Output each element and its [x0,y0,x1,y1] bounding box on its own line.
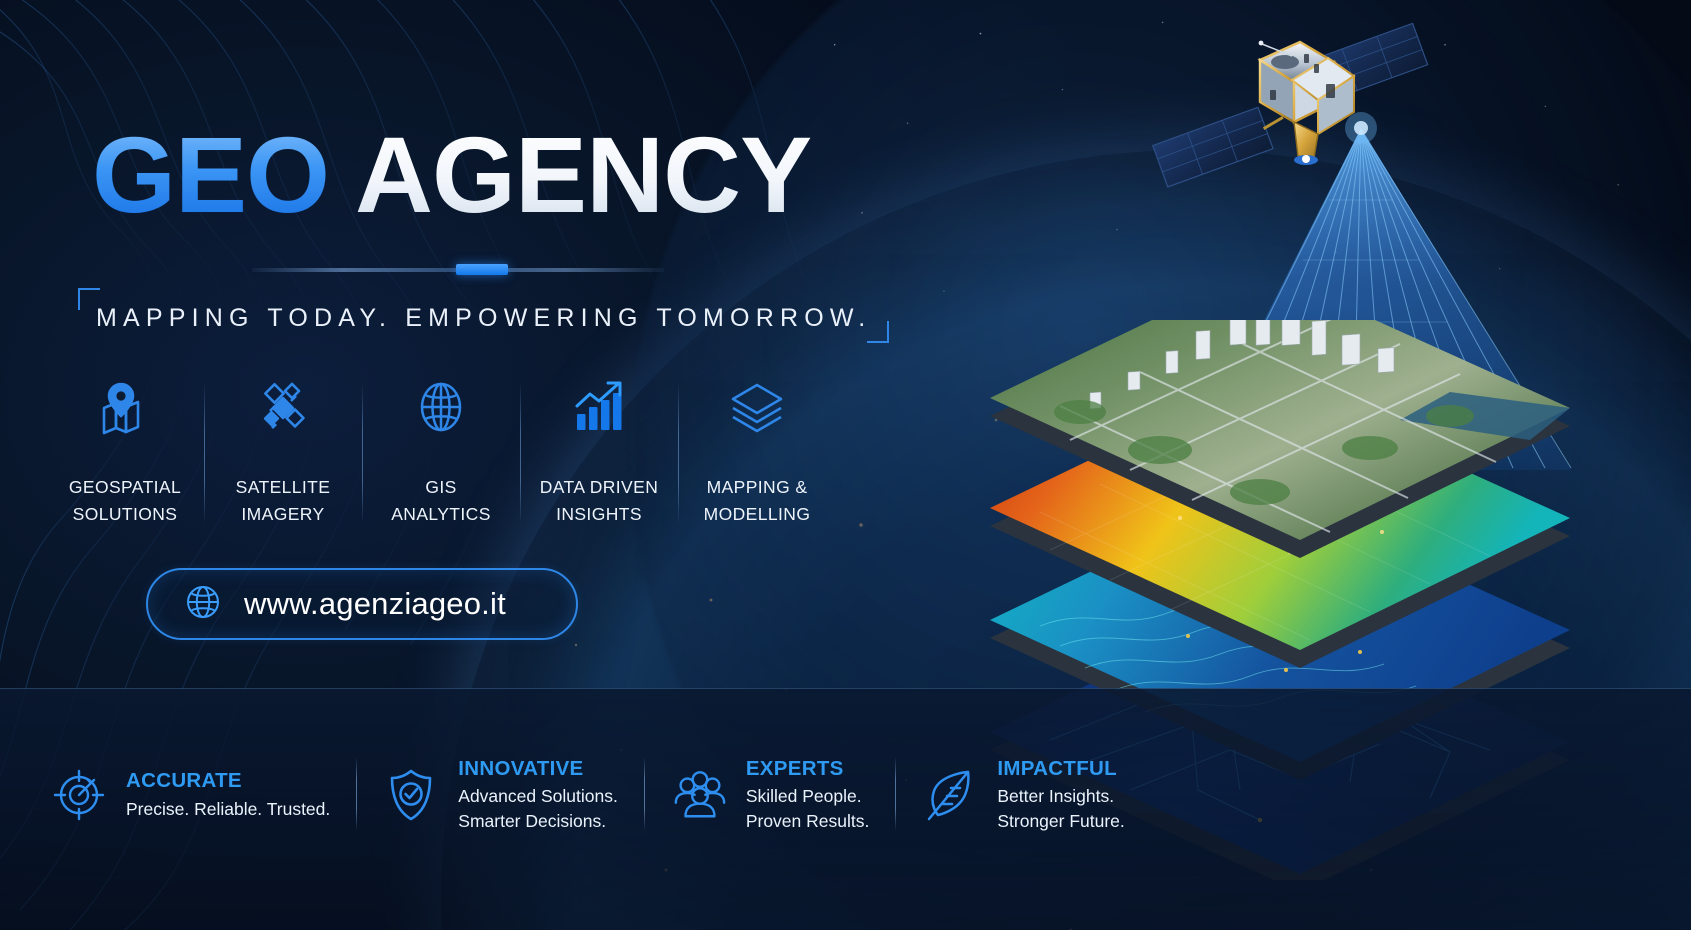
feature-geospatial-solutions[interactable]: GEOSPATIAL SOLUTIONS [46,378,204,528]
feature-label: SATELLITE IMAGERY [236,474,331,528]
website-url-label: www.agenziageo.it [244,586,506,622]
bracket-bottom-right-icon [867,321,889,343]
map-pin-icon [96,378,154,440]
feature-label: GEOSPATIAL SOLUTIONS [69,474,181,528]
page-title: GEO AGENCY [92,112,811,237]
value-prop-experts[interactable]: EXPERTS Skilled People. Proven Results. [644,749,896,841]
title-divider-knob [456,264,508,275]
layers-icon [726,378,788,440]
tagline: MAPPING TODAY. EMPOWERING TOMORROW. [78,288,889,343]
value-prop-title: INNOVATIVE [458,756,618,782]
value-prop-innovative[interactable]: INNOVATIVE Advanced Solutions. Smarter D… [356,749,644,841]
people-group-icon [670,766,728,824]
leaf-icon [921,766,979,824]
globe-grid-icon [412,378,470,440]
bar-chart-up-icon [568,378,630,440]
feature-label: GIS ANALYTICS [391,474,491,528]
value-prop-title: IMPACTFUL [997,756,1124,782]
value-prop-subtitle: Better Insights. Stronger Future. [997,784,1124,834]
value-prop-text: ACCURATE Precise. Reliable. Trusted. [126,768,330,821]
feature-list: GEOSPATIAL SOLUTIONS SATELLITE IM [46,378,836,528]
target-icon [50,766,108,824]
value-prop-title: EXPERTS [746,756,870,782]
value-prop-subtitle: Advanced Solutions. Smarter Decisions. [458,784,618,834]
value-props-bar: ACCURATE Precise. Reliable. Trusted. INN… [0,688,1691,930]
feature-label: DATA DRIVEN INSIGHTS [540,474,659,528]
value-prop-text: IMPACTFUL Better Insights. Stronger Futu… [997,756,1124,834]
value-prop-text: EXPERTS Skilled People. Proven Results. [746,756,870,834]
satellite-icon [254,378,312,440]
value-prop-subtitle: Skilled People. Proven Results. [746,784,870,834]
title-secondary: AGENCY [355,112,811,237]
satellite-icon [1142,18,1442,208]
website-button[interactable]: www.agenziageo.it [146,568,578,640]
bracket-top-left-icon [78,288,100,310]
value-prop-accurate[interactable]: ACCURATE Precise. Reliable. Trusted. [24,749,356,841]
feature-label: MAPPING & MODELLING [704,474,811,528]
value-prop-impactful[interactable]: IMPACTFUL Better Insights. Stronger Futu… [895,749,1150,841]
feature-gis-analytics[interactable]: GIS ANALYTICS [362,378,520,528]
feature-mapping-modelling[interactable]: MAPPING & MODELLING [678,378,836,528]
value-props-list: ACCURATE Precise. Reliable. Trusted. INN… [24,749,1151,841]
value-prop-title: ACCURATE [126,768,330,794]
feature-satellite-imagery[interactable]: SATELLITE IMAGERY [204,378,362,528]
feature-data-driven-insights[interactable]: DATA DRIVEN INSIGHTS [520,378,678,528]
value-prop-subtitle: Precise. Reliable. Trusted. [126,797,330,822]
geo-agency-banner: GEO AGENCY MAPPING TODAY. EMPOWERING TOM… [0,0,1691,930]
globe-icon [184,583,222,626]
shield-check-icon [382,766,440,824]
title-primary: GEO [92,112,329,237]
value-prop-text: INNOVATIVE Advanced Solutions. Smarter D… [458,756,618,834]
tagline-block: MAPPING TODAY. EMPOWERING TOMORROW. [78,288,889,343]
